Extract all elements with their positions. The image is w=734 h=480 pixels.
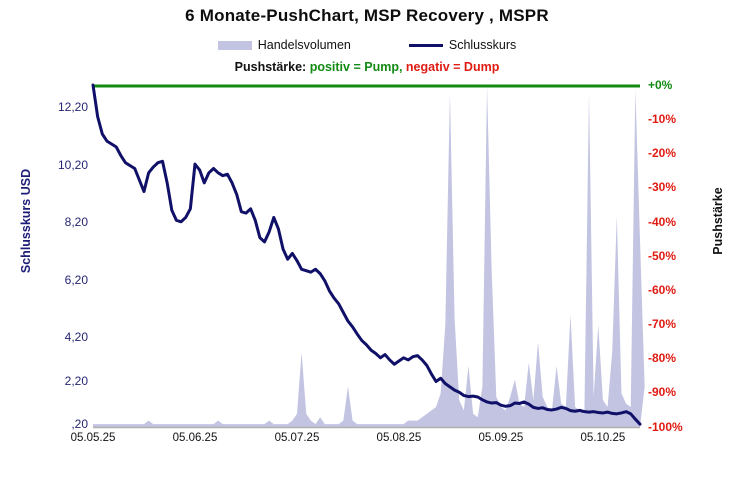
close-price-line bbox=[93, 85, 640, 424]
plot-area bbox=[0, 0, 734, 480]
chart-root: 6 Monate-PushChart, MSP Recovery , MSPR … bbox=[0, 0, 734, 480]
volume-area bbox=[93, 86, 645, 428]
volume-area-group bbox=[93, 86, 645, 428]
